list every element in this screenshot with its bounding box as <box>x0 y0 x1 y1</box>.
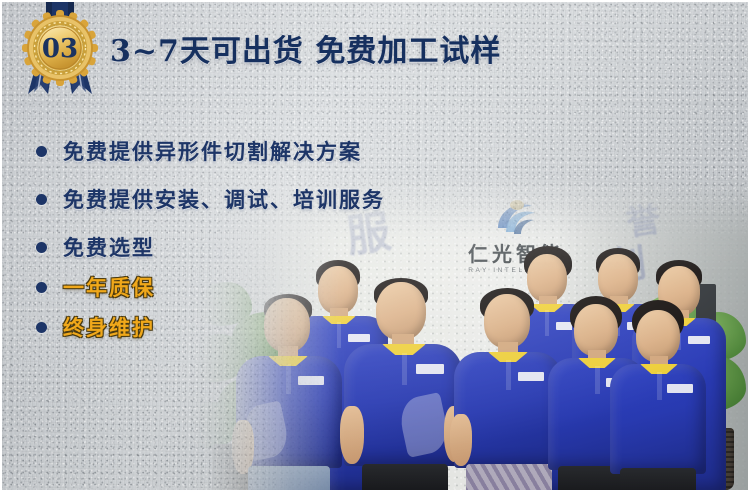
list-item-label: 免费选型 <box>63 232 155 262</box>
list-item-label: 终身维护 <box>63 312 155 342</box>
bullet-dot-icon <box>36 282 47 293</box>
list-item: 免费选型 <box>36 232 456 262</box>
list-item: 终身维护 <box>36 312 456 342</box>
list-item-label: 一年质保 <box>63 272 155 302</box>
list-item-label: 免费提供异形件切割解决方案 <box>63 136 362 166</box>
list-item-label: 免费提供安装、调试、培训服务 <box>63 184 385 214</box>
page-title: 3~7天可出货 免费加工试样 <box>110 26 501 70</box>
feature-list: 免费提供异形件切割解决方案 免费提供安装、调试、培训服务 免费选型 一年质保 终… <box>36 136 456 352</box>
list-item: 免费提供安装、调试、培训服务 <box>36 184 456 214</box>
promo-poster: 服 务 信 誉 创 仁光智能 RAY INTELLIGENT <box>0 0 750 492</box>
bullet-dot-icon <box>36 322 47 333</box>
list-item: 免费提供异形件切割解决方案 <box>36 136 456 166</box>
bullet-dot-icon <box>36 146 47 157</box>
list-item: 一年质保 <box>36 272 456 302</box>
bullet-dot-icon <box>36 242 47 253</box>
bullet-dot-icon <box>36 194 47 205</box>
step-number-badge: 03 <box>14 2 106 98</box>
badge-number-text: 03 <box>42 34 78 64</box>
